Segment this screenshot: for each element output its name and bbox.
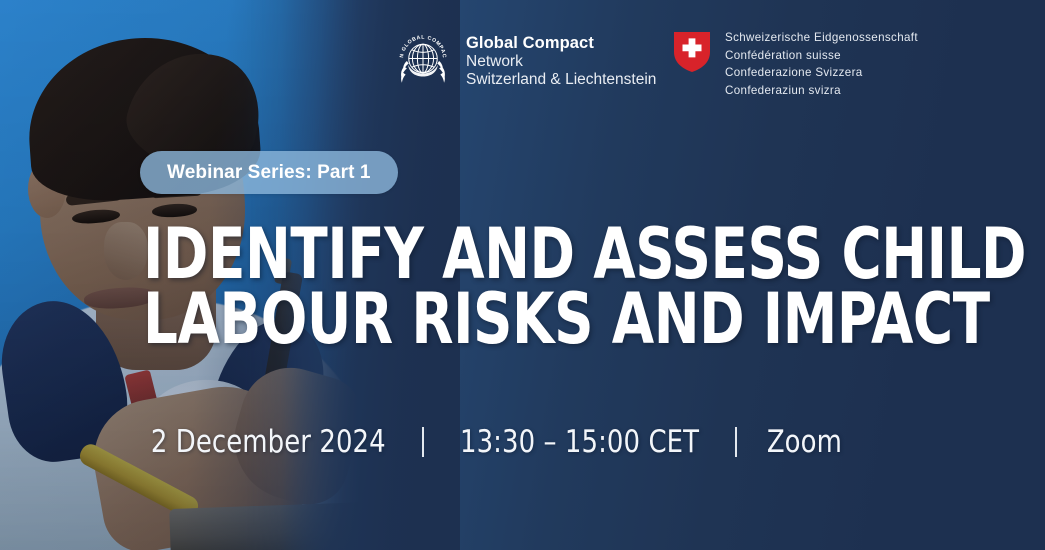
page-title: Identify and Assess Child Labour Risks a…: [143, 222, 1026, 352]
swiss-line-it: Confederazione Svizzera: [725, 64, 918, 82]
swiss-line-rm: Confederaziun svizra: [725, 82, 918, 100]
gc-line-1: Global Compact: [466, 34, 656, 53]
webinar-promo-banner: UN GLOBAL COMPACT Global Compact Network…: [0, 0, 1045, 550]
global-compact-wordmark: Global Compact Network Switzerland & Lie…: [466, 33, 656, 89]
swiss-line-de: Schweizerische Eidgenossenschaft: [725, 29, 918, 47]
event-details: 2 December 2024 13:30 – 15:00 CET Zoom: [142, 424, 844, 460]
swiss-confederation-logo: Schweizerische Eidgenossenschaft Confédé…: [672, 29, 918, 99]
swiss-confederation-wordmark: Schweizerische Eidgenossenschaft Confédé…: [725, 29, 918, 99]
gc-line-3: Switzerland & Liechtenstein: [466, 71, 656, 89]
global-compact-logo: UN GLOBAL COMPACT Global Compact Network…: [392, 30, 656, 92]
event-platform: Zoom: [766, 424, 841, 460]
headline-line-2: Labour Risks and Impact: [143, 287, 1026, 352]
gc-line-2: Network: [466, 53, 656, 71]
detail-separator-2: [735, 427, 737, 457]
un-global-compact-emblem: UN GLOBAL COMPACT: [392, 30, 454, 92]
webinar-series-badge: Webinar Series: Part 1: [140, 151, 398, 194]
event-date: 2 December 2024: [151, 424, 386, 460]
detail-separator-1: [422, 427, 424, 457]
swiss-cross-shield-icon: [672, 30, 712, 74]
logo-row: UN GLOBAL COMPACT Global Compact Network…: [0, 0, 1045, 110]
event-time: 13:30 – 15:00 CET: [460, 424, 699, 460]
swiss-line-fr: Confédération suisse: [725, 47, 918, 65]
